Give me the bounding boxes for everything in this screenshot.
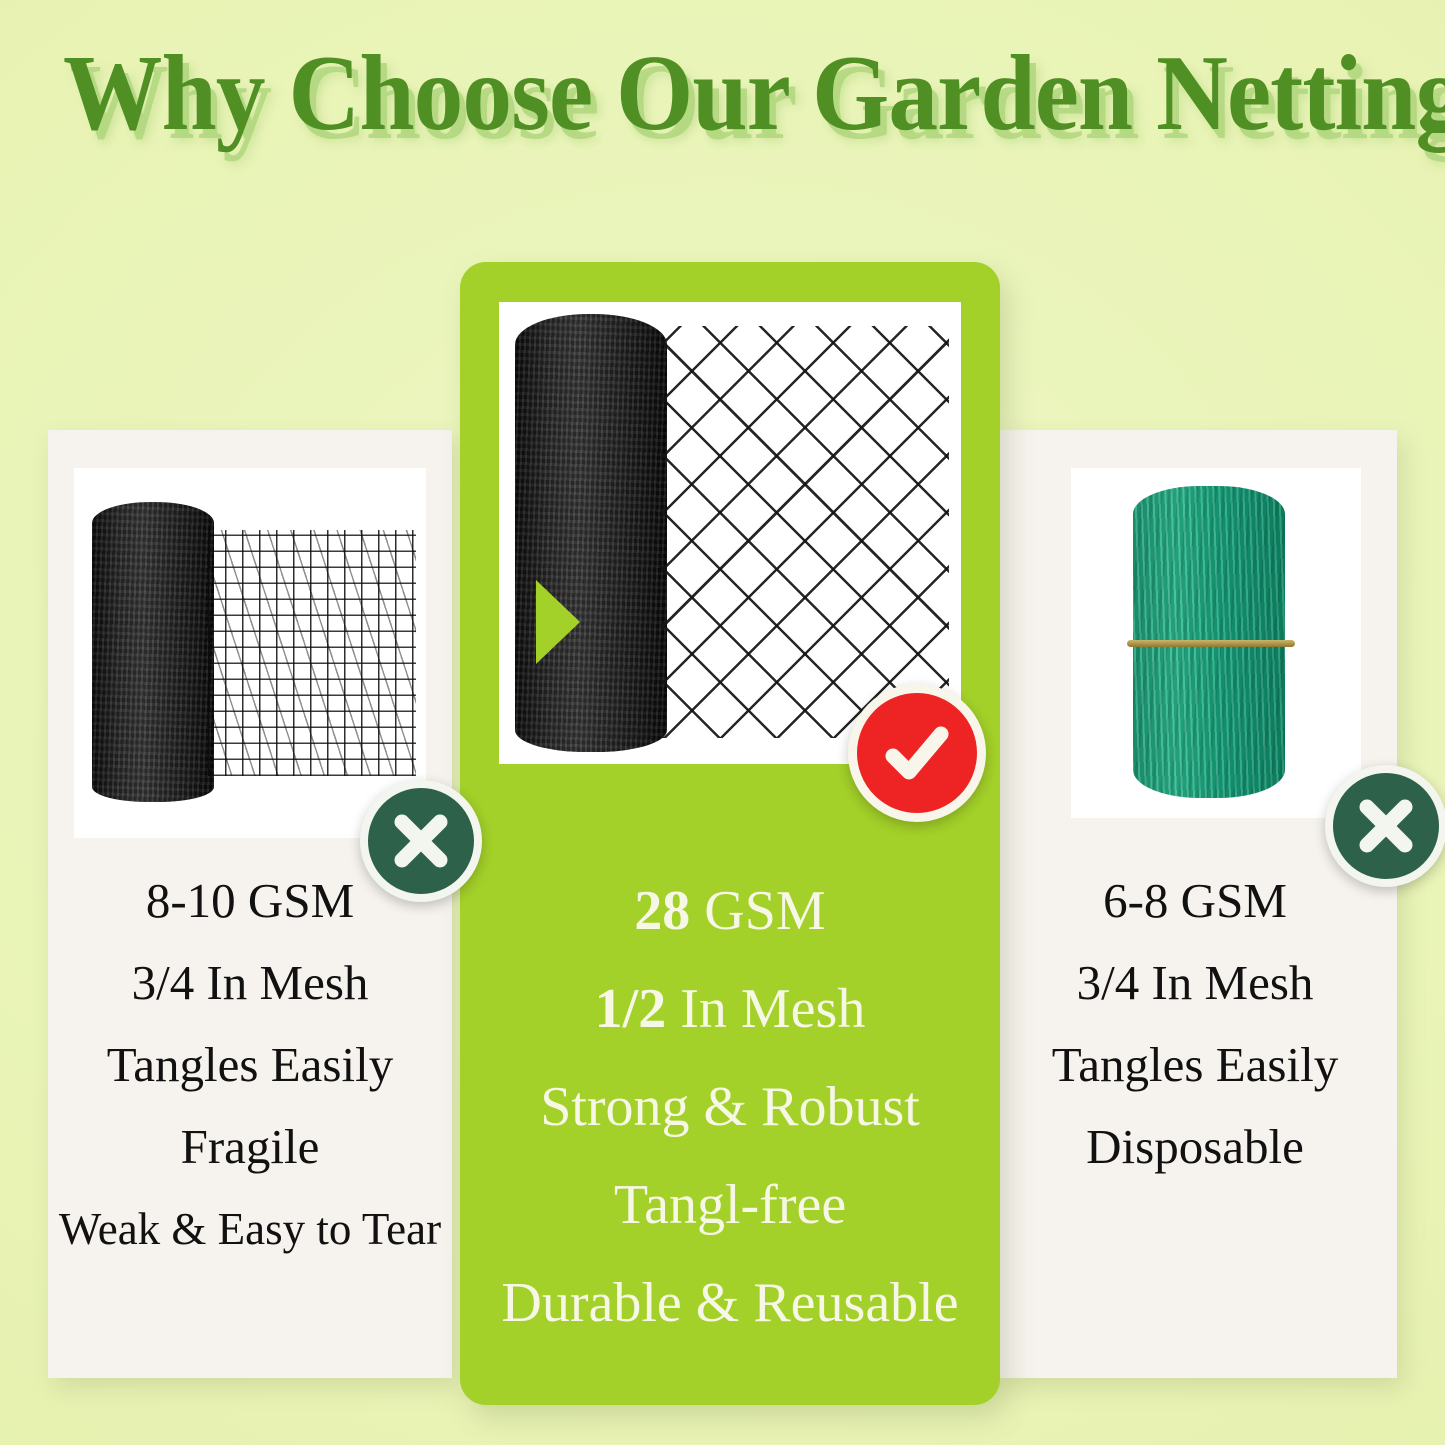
spec-line: Tangles Easily bbox=[993, 1024, 1397, 1106]
competitor-left-product-image bbox=[74, 468, 426, 838]
spec-rest: Tangl-free bbox=[614, 1174, 846, 1236]
spec-rest: Strong & Robust bbox=[540, 1076, 920, 1138]
competitor-right-panel: 6-8 GSM 3/4 In Mesh Tangles Easily Dispo… bbox=[993, 430, 1397, 1378]
spec-line: Weak & Easy to Tear bbox=[48, 1188, 452, 1270]
spec-line: Disposable bbox=[993, 1106, 1397, 1188]
competitor-left-panel: 8-10 GSM 3/4 In Mesh Tangles Easily Frag… bbox=[48, 430, 452, 1378]
spec-line: 3/4 In Mesh bbox=[993, 942, 1397, 1024]
competitor-right-product-image bbox=[1071, 468, 1361, 818]
diamond-mesh bbox=[661, 326, 949, 738]
spec-emphasis: 28 bbox=[634, 880, 690, 942]
spec-emphasis: 1/2 bbox=[595, 978, 667, 1040]
spec-line: 28 GSM bbox=[460, 862, 1000, 960]
spec-line: 1/2 In Mesh bbox=[460, 960, 1000, 1058]
spec-rest: In Mesh bbox=[666, 978, 865, 1040]
x-mark-icon bbox=[1325, 765, 1445, 887]
spec-rest: GSM bbox=[690, 880, 825, 942]
black-netting-roll bbox=[92, 502, 214, 802]
our-product-panel: 28 GSM 1/2 In Mesh Strong & Robust Tangl… bbox=[460, 262, 1000, 1405]
competitor-left-spec-list: 8-10 GSM 3/4 In Mesh Tangles Easily Frag… bbox=[48, 860, 452, 1270]
spec-line: 6-8 GSM bbox=[993, 860, 1397, 942]
spec-line: Fragile bbox=[48, 1106, 452, 1188]
fine-square-mesh bbox=[208, 530, 416, 776]
check-mark-icon bbox=[848, 684, 986, 822]
spec-line: Durable & Reusable bbox=[460, 1254, 1000, 1352]
spec-line: Tangles Easily bbox=[48, 1024, 452, 1106]
page-title: Why Choose Our Garden Netting? bbox=[63, 34, 1445, 154]
competitor-right-spec-list: 6-8 GSM 3/4 In Mesh Tangles Easily Dispo… bbox=[993, 860, 1397, 1188]
black-netting-roll bbox=[515, 314, 667, 752]
arrow-right-icon bbox=[536, 580, 580, 664]
page-title-container: Why Choose Our Garden Netting? bbox=[0, 34, 1445, 164]
spec-line: Tangl-free bbox=[460, 1156, 1000, 1254]
spec-rest: Durable & Reusable bbox=[501, 1272, 958, 1334]
x-mark-icon bbox=[360, 780, 482, 902]
our-product-spec-list: 28 GSM 1/2 In Mesh Strong & Robust Tangl… bbox=[460, 862, 1000, 1352]
infographic-canvas: Why Choose Our Garden Netting? 8-10 GSM … bbox=[0, 0, 1445, 1445]
spec-line: Strong & Robust bbox=[460, 1058, 1000, 1156]
bundle-tie-string bbox=[1127, 640, 1295, 647]
spec-line: 3/4 In Mesh bbox=[48, 942, 452, 1024]
